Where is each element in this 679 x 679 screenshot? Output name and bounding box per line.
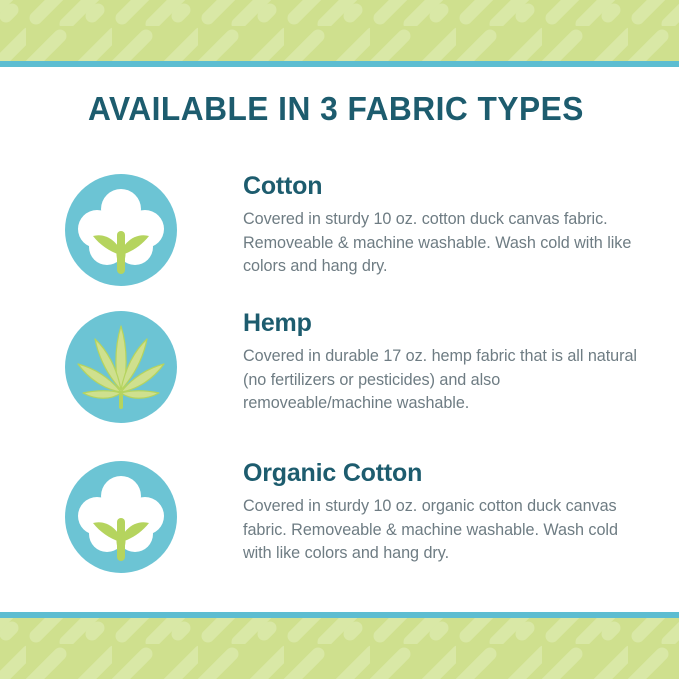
list-item-text: Cotton Covered in sturdy 10 oz. cotton d… — [243, 173, 643, 279]
fabric-heading: Hemp — [243, 310, 643, 336]
fabric-types-infographic: AVAILABLE IN 3 FABRIC TYPES — [0, 0, 679, 679]
cotton-boll-icon — [64, 460, 178, 574]
page-title: AVAILABLE IN 3 FABRIC TYPES — [88, 90, 584, 128]
list-item-text: Hemp Covered in durable 17 oz. hemp fabr… — [243, 310, 643, 416]
list-item: Cotton Covered in sturdy 10 oz. cotton d… — [0, 173, 679, 303]
bottom-pattern-band — [0, 618, 679, 679]
diagonal-stripe-pattern-icon — [0, 0, 679, 61]
hemp-leaf-icon — [64, 310, 178, 424]
fabric-description: Covered in sturdy 10 oz. organic cotton … — [243, 495, 643, 565]
cotton-boll-icon — [64, 173, 178, 287]
fabric-description: Covered in sturdy 10 oz. cotton duck can… — [243, 208, 643, 278]
list-item: Organic Cotton Covered in sturdy 10 oz. … — [0, 460, 679, 590]
top-pattern-band — [0, 0, 679, 61]
list-item-text: Organic Cotton Covered in sturdy 10 oz. … — [243, 460, 643, 566]
diagonal-stripe-pattern-icon — [0, 618, 679, 679]
fabric-heading: Organic Cotton — [243, 460, 643, 486]
top-teal-divider — [0, 61, 679, 67]
fabric-description: Covered in durable 17 oz. hemp fabric th… — [243, 345, 643, 415]
list-item: Hemp Covered in durable 17 oz. hemp fabr… — [0, 310, 679, 440]
fabric-heading: Cotton — [243, 173, 643, 199]
